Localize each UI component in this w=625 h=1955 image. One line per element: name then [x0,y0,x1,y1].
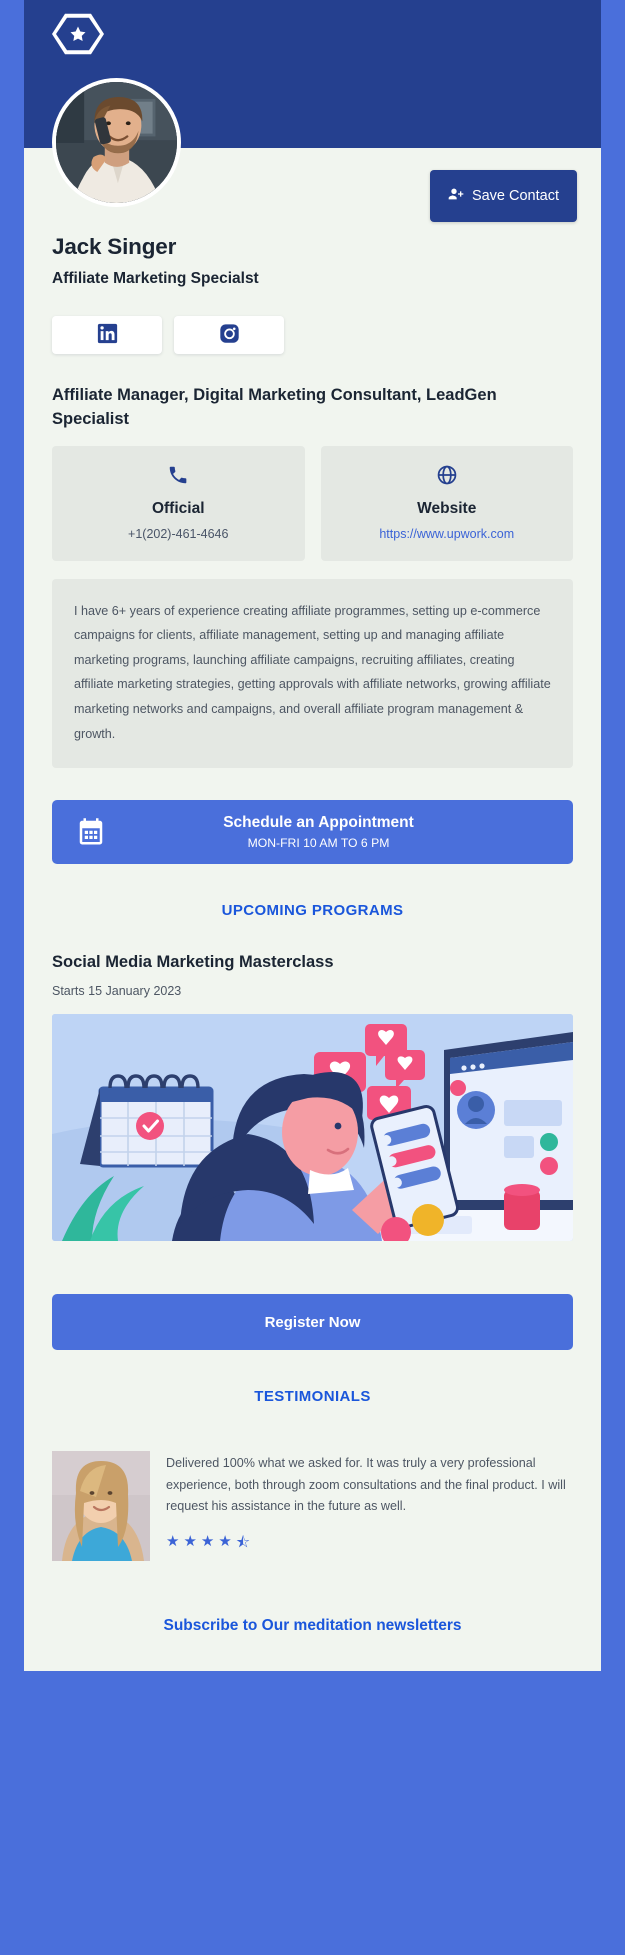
phone-icon [60,464,297,488]
section-heading-upcoming-programs: UPCOMING PROGRAMS [24,864,601,919]
star-icon: ★ [183,1532,197,1557]
save-contact-button[interactable]: Save Contact [430,170,577,222]
contact-card-website[interactable]: Website https://www.upwork.com [321,446,574,561]
subscribe-newsletter-link[interactable]: Subscribe to Our meditation newsletters [24,1561,601,1671]
hero-banner [24,0,601,148]
professional-headline: Affiliate Manager, Digital Marketing Con… [24,354,601,432]
appointment-hours: MON-FRI 10 AM TO 6 PM [106,836,531,850]
star-icon: ★ [201,1532,215,1557]
testimonial-rating: ★ ★ ★ ★ ⯪ [166,1532,573,1557]
linkedin-icon [97,323,118,347]
bio-text: I have 6+ years of experience creating a… [52,579,573,768]
contact-card-value-website[interactable]: https://www.upwork.com [329,527,566,541]
star-half-icon: ⯪ [236,1532,251,1557]
brand-logo[interactable] [52,12,104,56]
contact-card-title: Official [60,500,297,518]
testimonial-avatar [52,1451,150,1561]
identity-block: Jack Singer Affiliate Marketing Specials… [24,222,601,288]
star-hexagon-logo-icon [52,12,104,56]
contact-card-title: Website [329,500,566,518]
calendar-icon [76,817,106,847]
person-add-icon [448,186,464,206]
star-icon: ★ [166,1532,180,1557]
contact-card-value-phone[interactable]: +1(202)-461-4646 [60,527,297,541]
testimonial-item: Delivered 100% what we asked for. It was… [24,1405,601,1561]
person-name: Jack Singer [52,234,573,260]
appointment-title: Schedule an Appointment [106,814,531,832]
star-icon: ★ [218,1532,232,1557]
globe-icon [329,464,566,488]
schedule-appointment-button[interactable]: Schedule an Appointment MON-FRI 10 AM TO… [52,800,573,864]
contact-cards-row: Official +1(202)-461-4646 Website https:… [24,432,601,561]
social-links-row [24,288,601,354]
avatar [52,78,181,207]
instagram-icon [219,323,240,347]
social-link-instagram[interactable] [174,316,284,354]
social-link-linkedin[interactable] [52,316,162,354]
program-start-date: Starts 15 January 2023 [52,984,573,998]
testimonial-text: Delivered 100% what we asked for. It was… [166,1453,573,1518]
person-role: Affiliate Marketing Specialst [52,270,573,288]
section-heading-testimonials: TESTIMONIALS [24,1350,601,1405]
program-title: Social Media Marketing Masterclass [52,953,573,972]
business-card-page: Save Contact Jack Singer Affiliate Marke… [24,0,601,1671]
program-block: Social Media Marketing Masterclass Start… [24,919,601,1241]
save-contact-label: Save Contact [472,188,559,204]
contact-card-official[interactable]: Official +1(202)-461-4646 [52,446,305,561]
register-now-button[interactable]: Register Now [52,1294,573,1350]
social-media-illustration-icon [52,1014,573,1241]
